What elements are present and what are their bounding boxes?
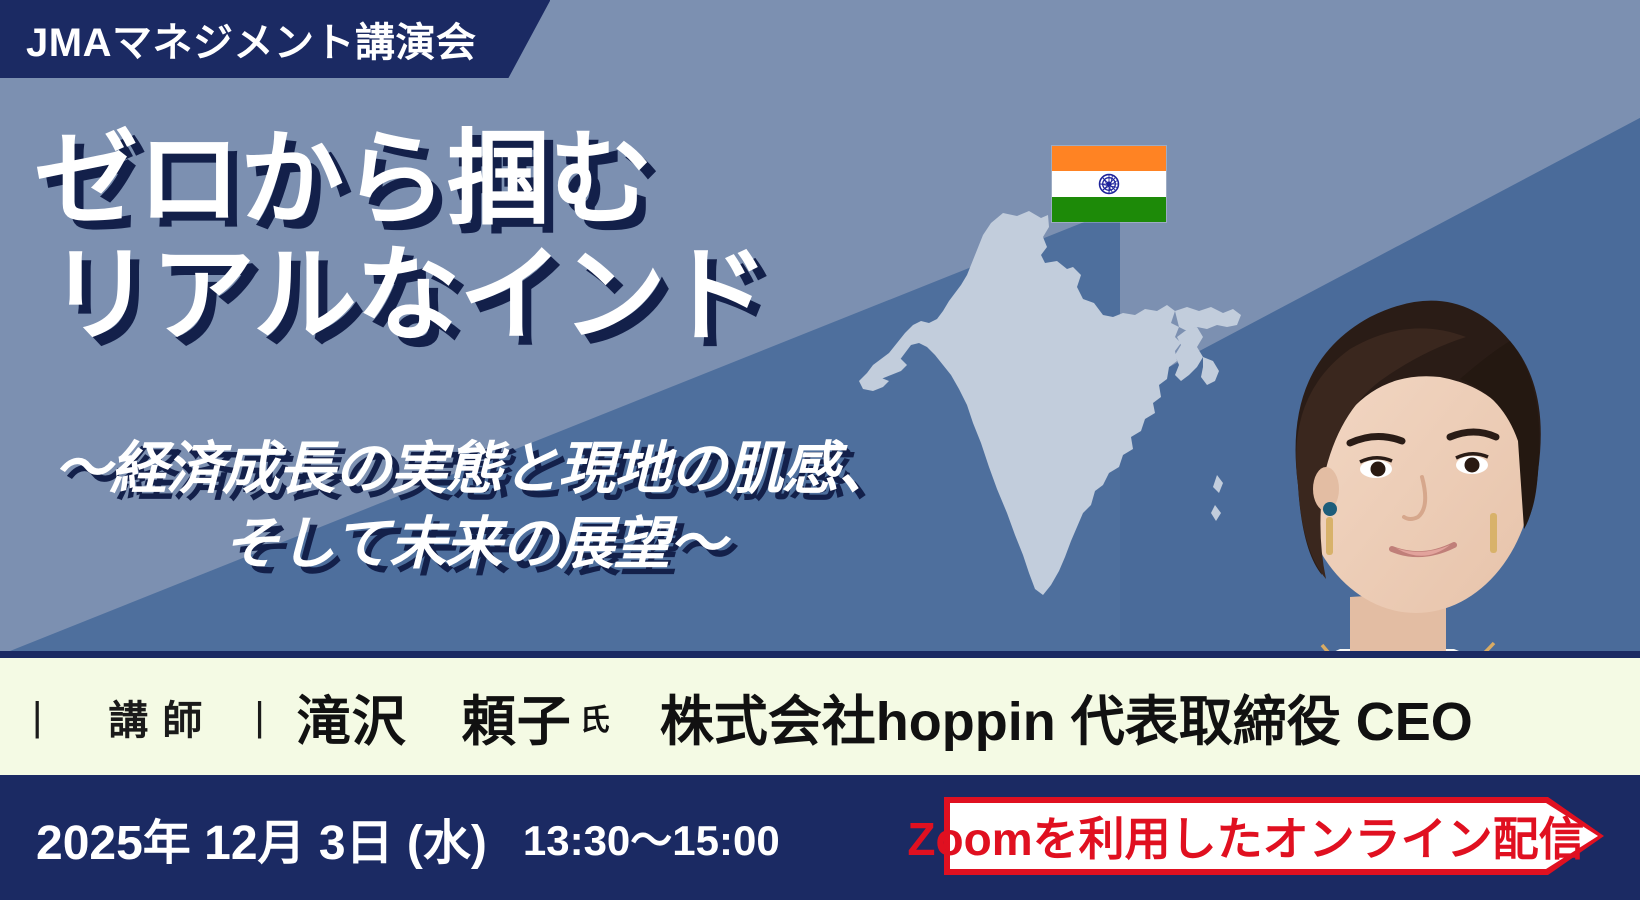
- speaker-role-label: 講師: [108, 688, 216, 746]
- speaker-honorific: 氏: [580, 695, 610, 739]
- speaker-divider-right: |: [254, 697, 264, 737]
- speaker-affiliation: 株式会社hoppin 代表取締役 CEO: [660, 677, 1473, 756]
- subtitle-line-2: そして未来の展望〜: [24, 507, 924, 582]
- title-line-2: リアルなインド: [48, 238, 934, 354]
- flag-band-saffron: [1052, 146, 1166, 171]
- subtitle: 〜経済成長の実態と現地の肌感、 そして未来の展望〜: [24, 432, 924, 582]
- title-line-1: ゼロから掴む: [34, 122, 934, 238]
- divider-rule: [0, 651, 1640, 658]
- flag-band-green: [1052, 197, 1166, 222]
- flag-band-white: [1052, 171, 1166, 196]
- seminar-poster: JMAマネジメント講演会 ゼロから掴む リアルなインド 〜経済成長の実態と現地の…: [0, 0, 1640, 900]
- main-title: ゼロから掴む リアルなインド: [34, 122, 934, 355]
- online-delivery-banner: Zoomを利用したオンライン配信: [944, 797, 1604, 875]
- speaker-name: 滝沢 頼子: [297, 677, 572, 756]
- event-series-label: JMAマネジメント講演会: [26, 10, 476, 68]
- online-delivery-label: Zoomを利用したオンライン配信: [944, 797, 1548, 875]
- schedule-bar: 2025年 12月 3日 (水) 13:30〜15:00 Zoomを利用したオン…: [0, 775, 1640, 900]
- event-series-badge: JMAマネジメント講演会: [0, 0, 550, 78]
- speaker-bar: | 講師 | 滝沢 頼子 氏 株式会社hoppin 代表取締役 CEO: [0, 658, 1640, 775]
- ashoka-chakra-icon: [1099, 173, 1120, 194]
- subtitle-line-1: 〜経済成長の実態と現地の肌感、: [24, 432, 924, 507]
- event-time: 13:30〜15:00: [523, 807, 780, 868]
- speaker-divider-left: |: [32, 697, 42, 737]
- event-date: 2025年 12月 3日 (水): [36, 803, 487, 873]
- india-flag-icon: [1052, 146, 1166, 222]
